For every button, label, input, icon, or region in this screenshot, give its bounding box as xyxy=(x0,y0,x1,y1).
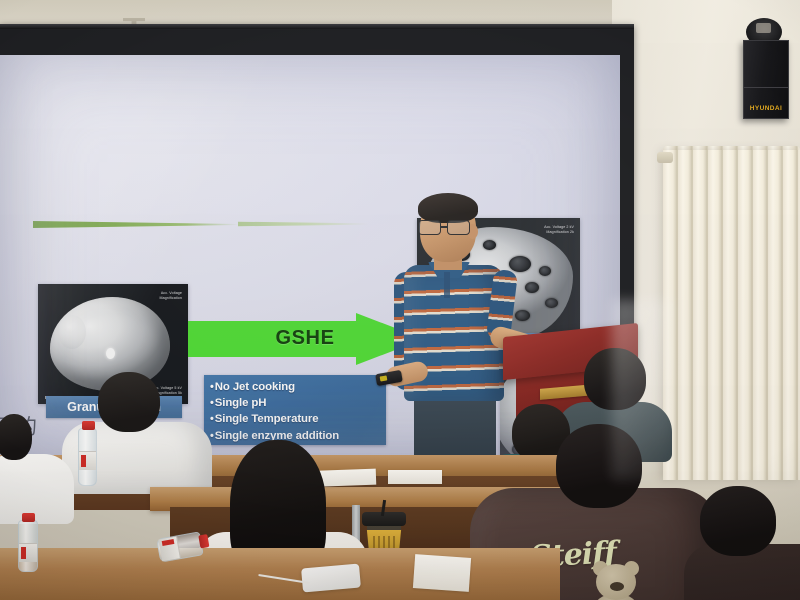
starch-pore xyxy=(545,298,558,308)
sem-annotation-right: Acc. Voltage 2 kV Magnification 2k xyxy=(544,225,574,235)
radiator-valve xyxy=(657,152,673,163)
bullet-item: No Jet cooking xyxy=(210,379,386,395)
paper-sheet xyxy=(388,470,442,484)
student-head xyxy=(556,424,642,508)
sem-annotation-top: Acc. Voltage Magnification xyxy=(160,291,182,301)
slide-decorative-line xyxy=(33,221,238,228)
bottle-label xyxy=(19,543,37,562)
starch-pore xyxy=(515,310,530,321)
smartphone xyxy=(301,564,361,593)
water-bottle xyxy=(18,520,38,572)
student-right-edge-foreground xyxy=(700,486,800,600)
desk-row-front xyxy=(0,548,560,600)
teddy-bear-graphic xyxy=(580,564,652,600)
lecture-hall-photo: Acc. Voltage Magnification Acc. Voltage … xyxy=(0,0,800,600)
student-torso xyxy=(0,454,74,524)
starch-pore xyxy=(525,282,539,293)
presenter-hair xyxy=(418,193,478,223)
presenter-glasses xyxy=(418,220,472,235)
starch-pore xyxy=(539,266,551,276)
bullet-list: No Jet cooking Single pH Single Temperat… xyxy=(204,379,386,444)
bottle-cap xyxy=(82,421,95,430)
bear-snout xyxy=(610,582,624,591)
bullet-item: Single Temperature xyxy=(210,411,386,427)
bottle-label xyxy=(158,536,181,561)
glasses-lens-left xyxy=(418,220,441,235)
water-bottle xyxy=(78,428,97,486)
presenter-placket xyxy=(444,272,450,298)
bottle-cap xyxy=(22,513,35,522)
starch-granule-highlight xyxy=(106,348,115,359)
arrow-label: GSHE xyxy=(250,327,360,350)
student-head xyxy=(584,348,646,410)
wall-speaker: HYUNDAI xyxy=(743,40,789,119)
gshe-process-arrow: GSHE xyxy=(188,313,424,365)
student-head xyxy=(0,414,32,460)
glasses-bridge xyxy=(441,226,447,228)
student-head xyxy=(700,486,776,556)
speaker-brand-label: HYUNDAI xyxy=(744,105,788,112)
glasses-lens-right xyxy=(447,220,470,235)
student-left-edge-back xyxy=(0,414,74,514)
paper-sheet xyxy=(413,554,471,592)
bullet-item: Single pH xyxy=(210,395,386,411)
slide-decorative-line-secondary xyxy=(238,221,368,227)
speaker-seam xyxy=(744,87,788,88)
bottle-label xyxy=(79,451,96,470)
student-head xyxy=(98,372,160,432)
slide-bullet-panel: No Jet cooking Single pH Single Temperat… xyxy=(204,375,386,445)
